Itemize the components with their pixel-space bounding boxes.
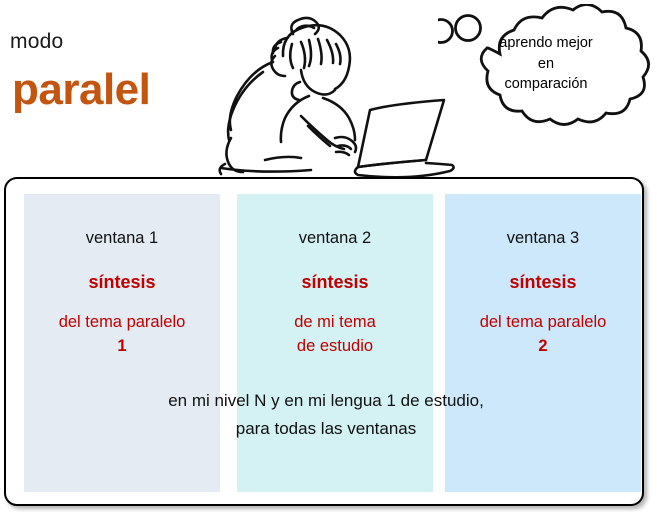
window-column-1[interactable]: ventana 1 síntesis del tema paralelo 1 (24, 194, 220, 492)
panel-footer-line-2: para todas las ventanas (6, 415, 646, 443)
window-title-2: ventana 2 (237, 229, 433, 248)
mode-name-heading: paralel (12, 68, 150, 112)
window-description-line-2-b: de estudio (237, 335, 433, 359)
person-studying-at-laptop-illustration (205, 0, 465, 178)
window-title-3: ventana 3 (445, 229, 641, 248)
window-description-1: del tema paralelo 1 (24, 311, 220, 359)
window-description-3: del tema paralelo 2 (445, 311, 641, 359)
thought-bubble-line-2: en (466, 54, 626, 75)
window-synthesis-label-3: síntesis (445, 272, 641, 293)
window-description-line-1-a: del tema paralelo (24, 311, 220, 335)
window-title-1: ventana 1 (24, 229, 220, 248)
thought-bubble-line-1: aprendo mejor (466, 33, 626, 54)
window-description-line-3-a: del tema paralelo (445, 311, 641, 335)
thought-bubble-line-3: comparación (466, 74, 626, 95)
window-description-line-2-a: de mi tema (237, 311, 433, 335)
parallel-mode-panel: ventana 1 síntesis del tema paralelo 1 v… (4, 177, 644, 506)
panel-footer-line-1: en mi nivel N y en mi lengua 1 de estudi… (6, 387, 646, 415)
window-description-2: de mi tema de estudio (237, 311, 433, 359)
window-synthesis-label-2: síntesis (237, 272, 433, 293)
panel-footer-note: en mi nivel N y en mi lengua 1 de estudi… (6, 387, 646, 442)
mode-label: modo (10, 31, 63, 52)
thought-bubble-text: aprendo mejor en comparación (466, 33, 626, 95)
header-area: modo paralel (0, 0, 657, 178)
window-synthesis-label-1: síntesis (24, 272, 220, 293)
window-description-line-3-b: 2 (445, 335, 641, 359)
window-column-3[interactable]: ventana 3 síntesis del tema paralelo 2 (445, 194, 641, 492)
window-column-2[interactable]: ventana 2 síntesis de mi tema de estudio (237, 194, 433, 492)
windows-columns-row: ventana 1 síntesis del tema paralelo 1 v… (6, 179, 646, 508)
window-description-line-1-b: 1 (24, 335, 220, 359)
